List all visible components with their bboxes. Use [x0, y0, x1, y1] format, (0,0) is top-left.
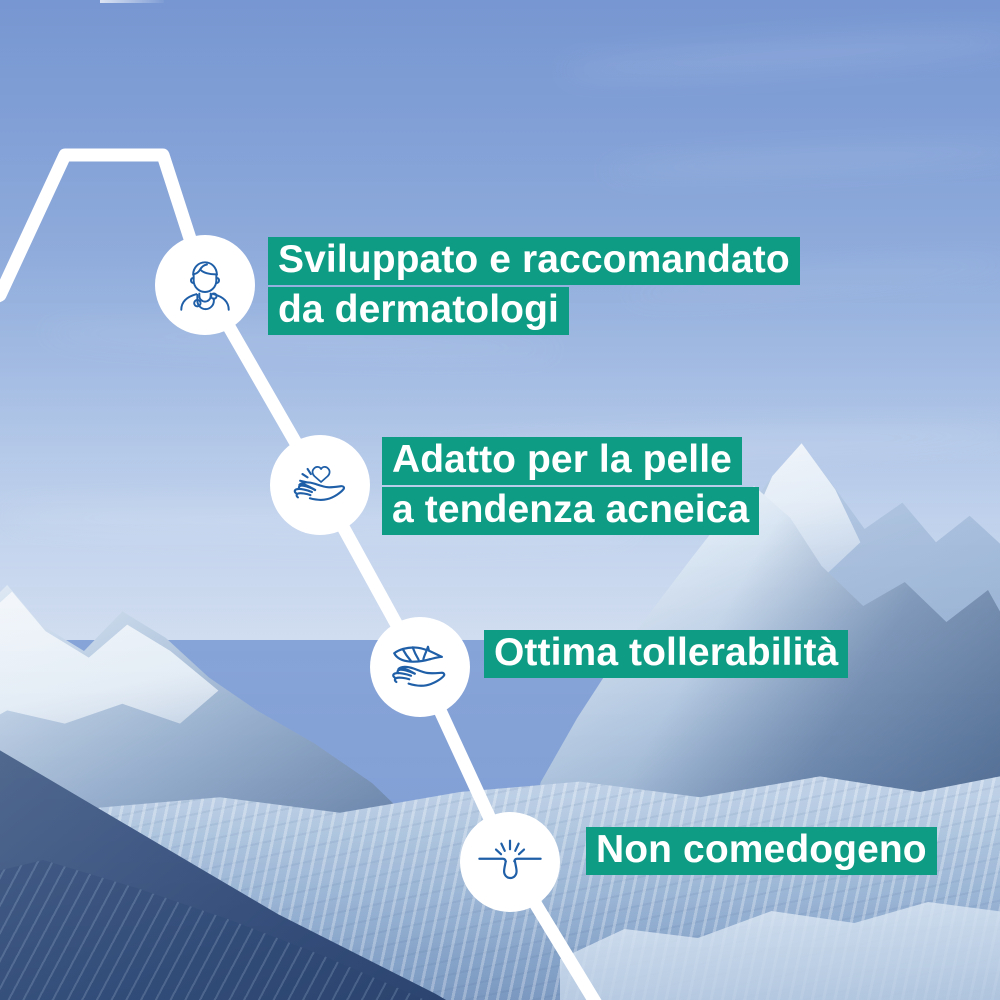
feather-hand-icon: [385, 632, 455, 702]
feature-text-line: Non comedogeno: [586, 827, 937, 875]
feature-text-2: Adatto per la pelle a tendenza acneica: [382, 437, 759, 535]
feature-text-1: Sviluppato e raccomandato da dermatologi: [268, 237, 800, 335]
feature-text-line: a tendenza acneica: [382, 487, 759, 535]
doctor-stethoscope-icon: [172, 252, 238, 318]
skin-pore-icon: [475, 827, 545, 897]
hand-heart-icon: [286, 451, 354, 519]
feature-icon-circle-4[interactable]: [460, 812, 560, 912]
feature-text-3: Ottima tollerabilità: [484, 630, 848, 678]
infographic-canvas: Sviluppato e raccomandato da dermatologi…: [0, 0, 1000, 1000]
feature-icon-circle-1[interactable]: [155, 235, 255, 335]
feature-text-4: Non comedogeno: [586, 827, 937, 875]
feature-text-line: Sviluppato e raccomandato: [268, 237, 800, 285]
feature-icon-circle-2[interactable]: [270, 435, 370, 535]
feature-text-line: Ottima tollerabilità: [484, 630, 848, 678]
feature-icon-circle-3[interactable]: [370, 617, 470, 717]
feature-text-line: da dermatologi: [268, 287, 569, 335]
feature-text-line: Adatto per la pelle: [382, 437, 742, 485]
